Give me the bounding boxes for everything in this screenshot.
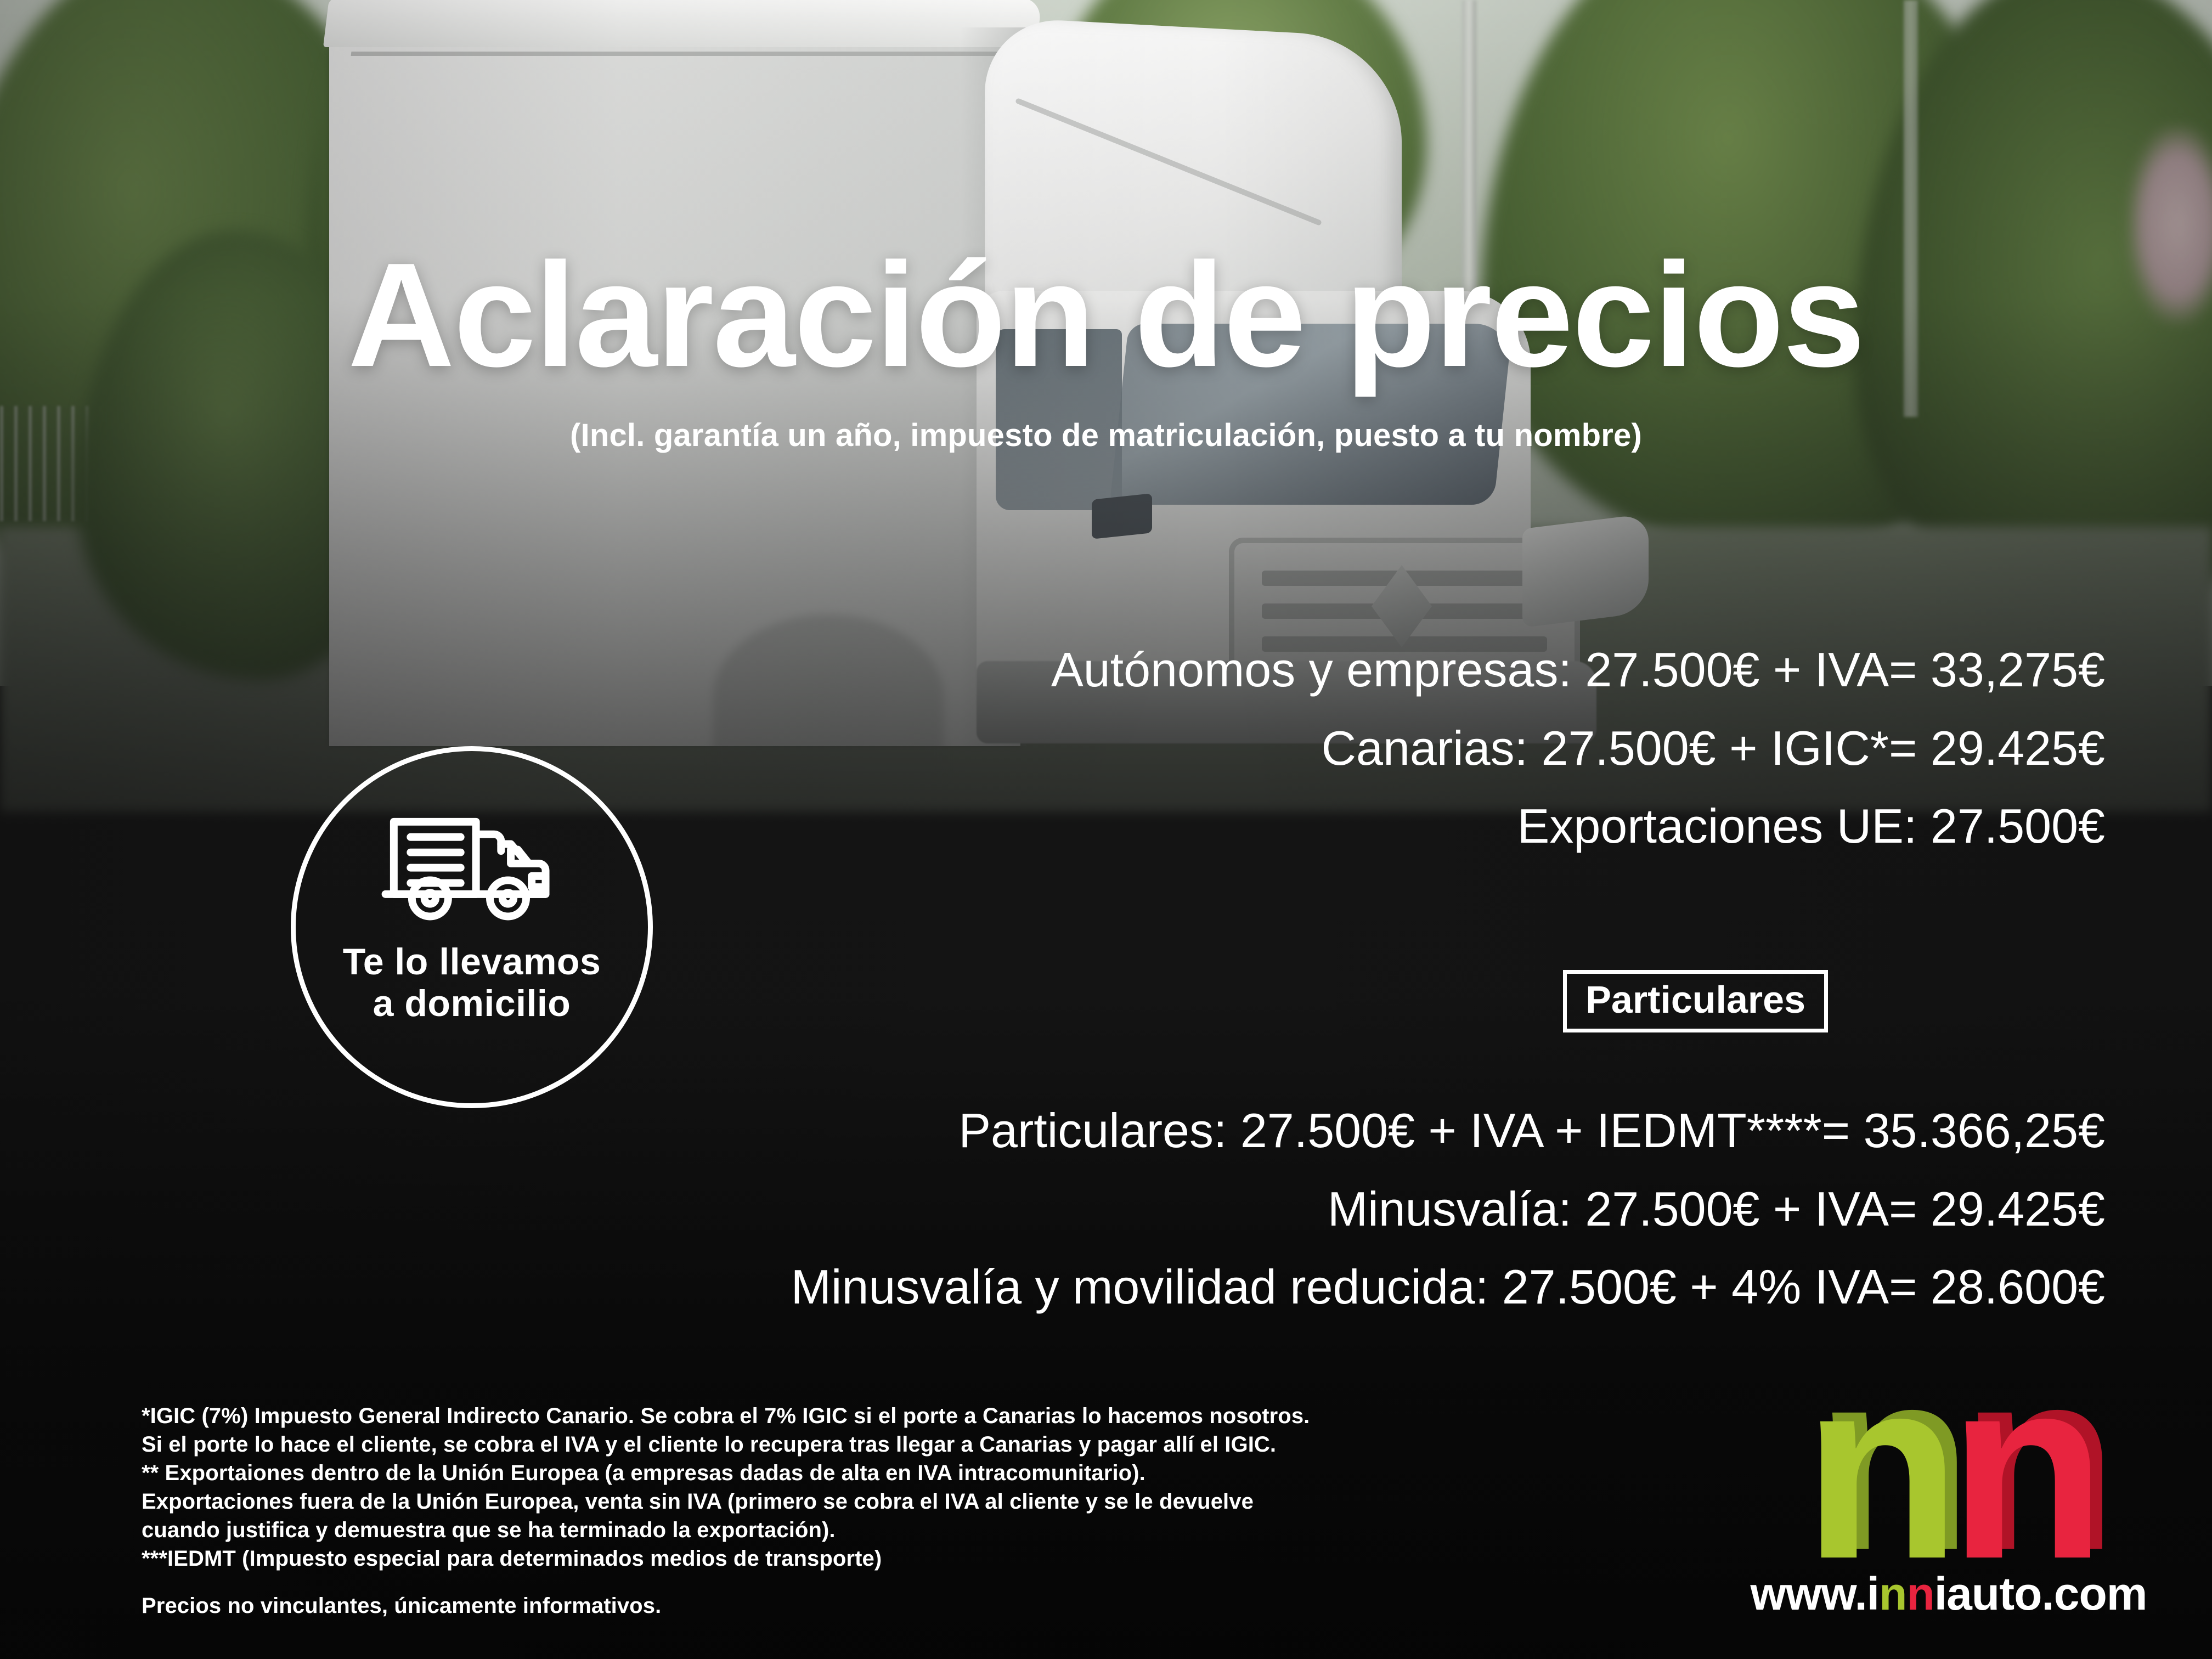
home-delivery-badge: Te lo llevamos a domicilio	[291, 746, 653, 1108]
footnote-line: Si el porte lo hace el cliente, se cobra…	[142, 1430, 1310, 1459]
delivery-truck-icon	[381, 800, 562, 927]
price-line-minusvalia-movilidad: Minusvalía y movilidad reducida: 27.500€…	[791, 1248, 2105, 1327]
private-price-list: Particulares: 27.500€ + IVA + IEDMT****=…	[791, 1092, 2105, 1327]
poster-content: Aclaración de precios (Incl. garantía un…	[0, 0, 2212, 1659]
footnote-spacer	[142, 1573, 1310, 1592]
price-clarification-poster: Aclaración de precios (Incl. garantía un…	[0, 0, 2212, 1659]
footnotes-block: *IGIC (7%) Impuesto General Indirecto Ca…	[142, 1402, 1310, 1620]
footnote-line: *IGIC (7%) Impuesto General Indirecto Ca…	[142, 1402, 1310, 1430]
logo-letter-n-red: n	[1949, 1373, 2094, 1564]
section-label-particulares: Particulares	[1563, 970, 1828, 1032]
company-logo[interactable]: n n www.inniauto.com	[1746, 1367, 2152, 1621]
price-line-particulares: Particulares: 27.500€ + IVA + IEDMT****=…	[791, 1092, 2105, 1170]
footnote-line: ** Exportaiones dentro de la Unión Europ…	[142, 1459, 1310, 1487]
footnote-line: cuando justifica y demuestra que se ha t…	[142, 1516, 1310, 1544]
badge-line-1: Te lo llevamos	[343, 941, 601, 983]
logo-letter-n-green: n	[1803, 1373, 1949, 1564]
badge-caption: Te lo llevamos a domicilio	[343, 941, 601, 1024]
business-price-list: Autónomos y empresas: 27.500€ + IVA= 33,…	[1051, 631, 2105, 866]
section-label-text: Particulares	[1585, 978, 1805, 1021]
badge-line-2: a domicilio	[343, 983, 601, 1024]
logo-mark-nn: n n	[1746, 1367, 2152, 1564]
page-title: Aclaración de precios	[0, 241, 2212, 390]
footnote-line: Exportaciones fuera de la Unión Europea,…	[142, 1487, 1310, 1516]
price-line-autonomos: Autónomos y empresas: 27.500€ + IVA= 33,…	[1051, 631, 2105, 709]
page-subtitle: (Incl. garantía un año, impuesto de matr…	[0, 417, 2212, 454]
price-line-canarias: Canarias: 27.500€ + IGIC*= 29.425€	[1051, 709, 2105, 788]
price-line-minusvalia: Minusvalía: 27.500€ + IVA= 29.425€	[791, 1170, 2105, 1249]
disclaimer-text: Precios no vinculantes, únicamente infor…	[142, 1592, 1310, 1620]
footnote-line: ***IEDMT (Impuesto especial para determi…	[142, 1544, 1310, 1573]
price-line-exportaciones-ue: Exportaciones UE: 27.500€	[1051, 787, 2105, 866]
